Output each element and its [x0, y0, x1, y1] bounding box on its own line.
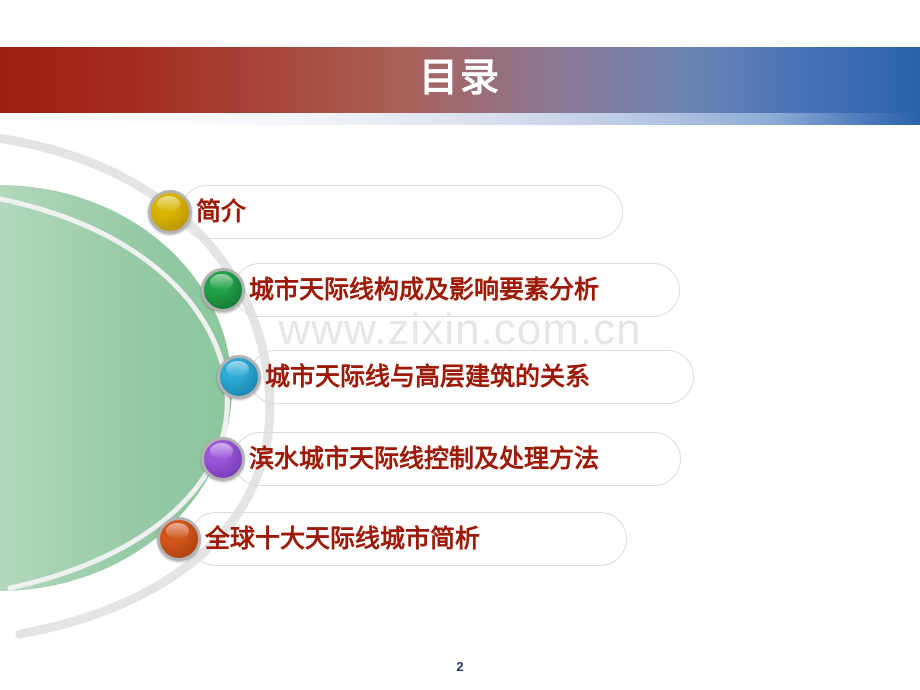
toc-label-3: 城市天际线与高层建筑的关系: [265, 350, 590, 404]
toc-item-2[interactable]: 城市天际线构成及影响要素分析: [0, 263, 920, 317]
toc-label-5: 全球十大天际线城市简析: [205, 512, 480, 566]
toc-item-5[interactable]: 全球十大天际线城市简析: [0, 512, 920, 566]
bullet-cyan-icon: [217, 355, 261, 399]
toc-label-4: 滨水城市天际线控制及处理方法: [249, 432, 599, 486]
toc-item-1[interactable]: 简介: [0, 185, 920, 239]
toc-label-2: 城市天际线构成及影响要素分析: [249, 263, 599, 317]
page-number: 2: [0, 659, 920, 674]
toc-item-4[interactable]: 滨水城市天际线控制及处理方法: [0, 432, 920, 486]
bullet-purple-icon: [201, 437, 245, 481]
toc-label-1: 简介: [196, 185, 246, 239]
toc-list: 简介 城市天际线构成及影响要素分析 城市天际线与高层建筑的关系 滨水城市天际线控…: [0, 0, 920, 690]
bullet-gold-icon: [148, 190, 192, 234]
toc-pill-1[interactable]: [180, 185, 623, 239]
toc-item-3[interactable]: 城市天际线与高层建筑的关系: [0, 350, 920, 404]
bullet-green-icon: [201, 268, 245, 312]
bullet-orange-icon: [157, 517, 201, 561]
slide-canvas: 目录 www.zixin.com.cn 简介 城市天际线构成及影响要素分析 城市…: [0, 0, 920, 690]
